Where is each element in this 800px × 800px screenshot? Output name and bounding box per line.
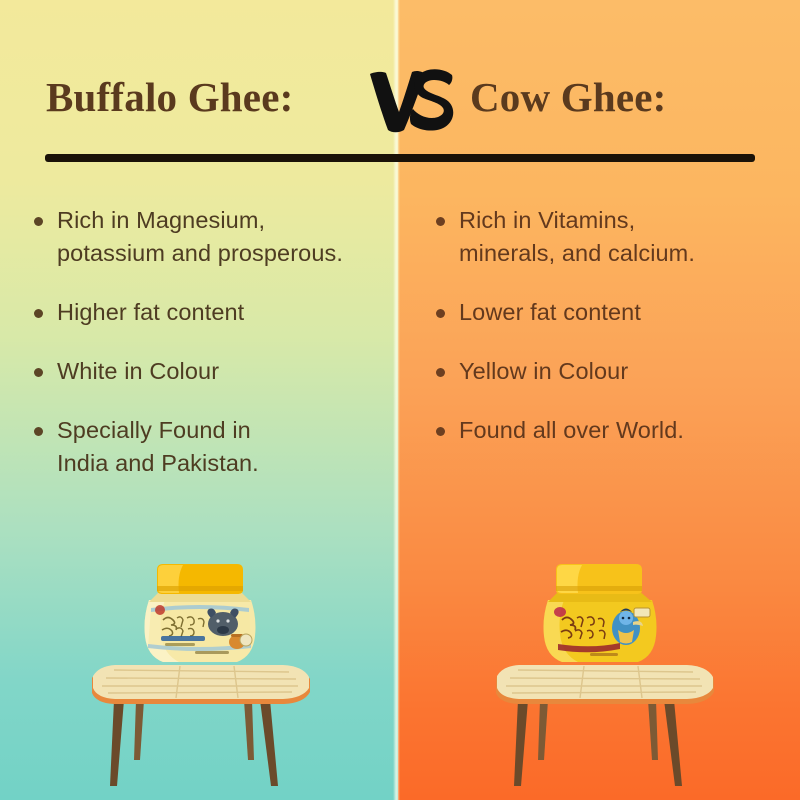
buffalo-illustration xyxy=(207,609,238,637)
bullet-dot-icon xyxy=(34,368,43,377)
list-item-label: Lower fat content xyxy=(459,296,641,329)
heading-divider-rule xyxy=(45,154,755,162)
list-item: Yellow in Colour xyxy=(436,355,776,388)
right-column-heading: Cow Ghee: xyxy=(470,68,770,126)
jar-corner-seal xyxy=(554,607,566,617)
ghee-comparison-infographic: Buffalo Ghee: Cow Ghee: Rich in Magnesiu… xyxy=(0,0,800,800)
jar-corner-seal xyxy=(155,605,165,615)
jar-net-weight xyxy=(590,653,618,656)
bullet-dot-icon xyxy=(34,217,43,226)
bullet-dot-icon xyxy=(436,368,445,377)
list-item-label: Specially Found in India and Pakistan. xyxy=(57,414,259,480)
jar-quality-badge xyxy=(240,634,252,646)
right-feature-list: Rich in Vitamins, minerals, and calcium.… xyxy=(436,204,776,473)
bullet-dot-icon xyxy=(436,427,445,436)
bullet-dot-icon xyxy=(436,309,445,318)
bench-right xyxy=(488,656,720,800)
jar-quality-badge xyxy=(634,608,650,617)
list-item: Found all over World. xyxy=(436,414,776,447)
list-item: Lower fat content xyxy=(436,296,776,329)
list-item-label: Yellow in Colour xyxy=(459,355,628,388)
list-item-label: Rich in Magnesium, potassium and prosper… xyxy=(57,204,343,270)
bench-legs xyxy=(110,700,278,786)
jar-net-weight xyxy=(195,651,229,654)
list-item-label: White in Colour xyxy=(57,355,219,388)
product-jar-cow-ghee xyxy=(534,556,666,672)
jar-tagline xyxy=(165,643,195,646)
list-item-label: Higher fat content xyxy=(57,296,244,329)
bullet-dot-icon xyxy=(34,427,43,436)
list-item: Higher fat content xyxy=(34,296,386,329)
list-item-label: Found all over World. xyxy=(459,414,684,447)
vs-badge xyxy=(364,60,460,140)
heading-row: Buffalo Ghee: Cow Ghee: xyxy=(0,68,800,138)
bullet-dot-icon xyxy=(436,217,445,226)
bench-left xyxy=(84,656,316,800)
jar-subtitle-banner xyxy=(161,636,205,641)
list-item: Rich in Vitamins, minerals, and calcium. xyxy=(436,204,776,270)
list-item-label: Rich in Vitamins, minerals, and calcium. xyxy=(459,204,695,270)
list-item: Specially Found in India and Pakistan. xyxy=(34,414,386,480)
jar-lid-rim xyxy=(556,586,642,591)
left-feature-list: Rich in Magnesium, potassium and prosper… xyxy=(34,204,386,506)
jar-lid-rim xyxy=(157,586,243,591)
bench-legs xyxy=(514,700,682,786)
left-column-heading: Buffalo Ghee: xyxy=(46,68,356,126)
bullet-dot-icon xyxy=(34,309,43,318)
product-jar-buffalo-ghee xyxy=(133,556,267,672)
list-item: White in Colour xyxy=(34,355,386,388)
list-item: Rich in Magnesium, potassium and prosper… xyxy=(34,204,386,270)
